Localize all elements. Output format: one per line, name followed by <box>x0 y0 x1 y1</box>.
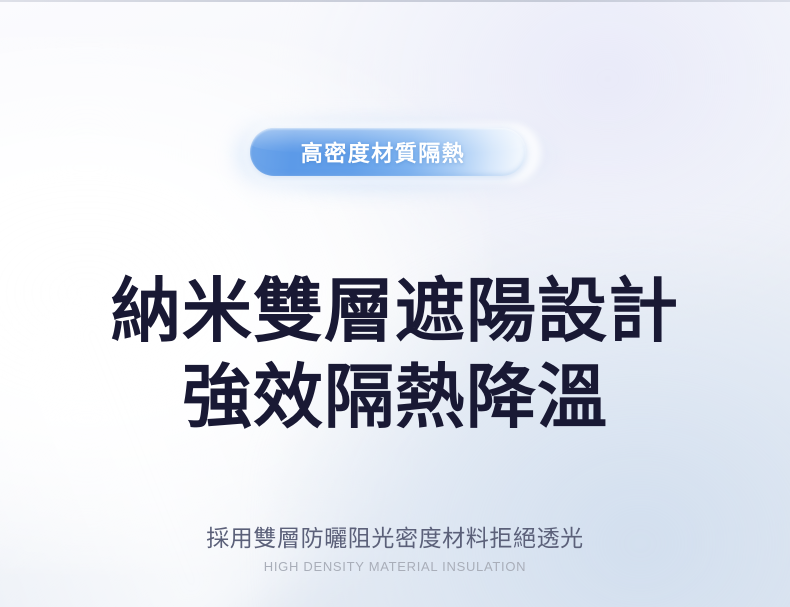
badge-label: 高密度材質隔熱 <box>301 136 476 168</box>
badge-pill: 高密度材質隔熱 <box>250 128 526 176</box>
headline-line-1: 納米雙層遮陽設計 <box>0 276 790 346</box>
promo-banner: 高密度材質隔熱 納米雙層遮陽設計 強效隔熱降溫 採用雙層防曬阻光密度材料拒絕透光… <box>0 0 790 607</box>
headline-line-2: 強效隔熱降溫 <box>0 362 790 432</box>
subtitle-text: 採用雙層防曬阻光密度材料拒絕透光 <box>0 519 790 553</box>
banner-content: 高密度材質隔熱 納米雙層遮陽設計 強效隔熱降溫 採用雙層防曬阻光密度材料拒絕透光… <box>0 0 790 607</box>
feature-badge: 高密度材質隔熱 <box>250 128 540 182</box>
english-caption: HIGH DENSITY MATERIAL INSULATION <box>0 559 790 574</box>
